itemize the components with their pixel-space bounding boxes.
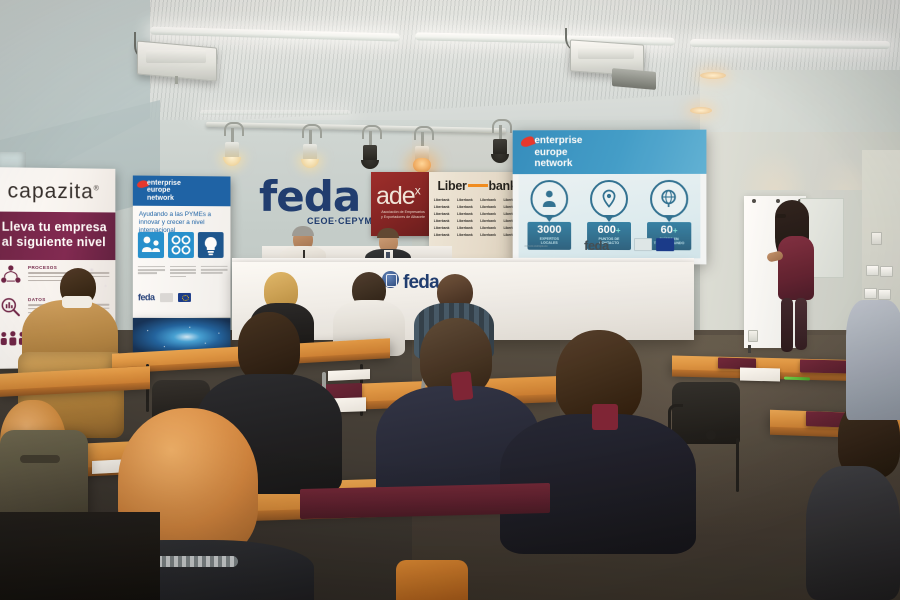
asesoramiento-icon: [138, 232, 164, 258]
riser-feda-logo: feda: [403, 272, 439, 294]
liberbank-repeat-label: Liberbank: [431, 198, 452, 202]
presenter-leg: [795, 298, 807, 350]
light-switch[interactable]: [864, 288, 877, 299]
wall-socket: [748, 330, 758, 342]
liberbank-repeat-label: Liberbank: [478, 226, 499, 230]
co-funded-logo: [160, 293, 173, 302]
capazita-section-heading: DATOS: [28, 297, 46, 302]
slide-footer-note: een.ec.europa.eu: [525, 244, 548, 248]
conference-folder[interactable]: [800, 359, 848, 373]
stat-value: 600: [598, 224, 616, 236]
adex-subtitle-line1: Asociación de Empresarios: [381, 210, 425, 214]
projector-lens-housing: [146, 50, 206, 63]
slide-brand-line1: enterprise: [534, 135, 582, 146]
recessed-downlight: [700, 72, 726, 79]
chair-caster: [706, 430, 716, 440]
chair-leg: [736, 438, 739, 492]
een-caption-block: [201, 266, 227, 279]
projector-mount-stem: [175, 76, 178, 84]
capazita-headline-line1: Lleva tu empresa: [0, 212, 115, 236]
een-brand-line3: network: [147, 195, 174, 202]
handout-sheet[interactable]: [740, 368, 780, 382]
recessed-downlight: [690, 107, 712, 114]
liberbank-repeat-grid: LiberbankLiberbankLiberbankLiberbankLibe…: [431, 198, 522, 237]
slide-stat-number: 60+: [647, 225, 691, 236]
conference-room-photo: capazita® Lleva tu empresa al siguiente …: [0, 0, 900, 600]
liberbank-repeat-label: Liberbank: [478, 219, 499, 223]
audience-collar: [62, 296, 92, 308]
stat-suffix: +: [673, 226, 678, 235]
lanyard: [451, 371, 474, 401]
innovacion-bulb-icon: [198, 232, 224, 258]
presenter-leg: [781, 298, 793, 352]
capazita-headline-line2: al siguiente nivel: [0, 235, 115, 250]
globe-icon: [650, 180, 688, 218]
stat-value: 60: [661, 224, 673, 236]
adex-wall-panel: adex Asociación de Empresarios y Exporta…: [371, 172, 433, 236]
een-brand-line1: enterprise: [147, 180, 181, 187]
adex-subtitle-line2: y Exportadores de Albacete: [381, 215, 425, 219]
een-card-captions: [138, 266, 228, 279]
slide-brand-line3: network: [534, 158, 572, 169]
projector-ceiling-recess: [612, 68, 656, 90]
audience-torso: [806, 466, 900, 600]
liberbank-main-logo: Liberbank: [433, 179, 521, 193]
slide-stat: 3000 EXPERTOSLOCALES: [523, 180, 577, 250]
capazita-logo: capazita®: [0, 179, 107, 204]
foreground-shadow: [0, 512, 160, 600]
presenter-glasses: [776, 214, 786, 218]
slide-footer-logos: [634, 238, 674, 251]
flipchart-leg: [748, 345, 751, 353]
liberbank-repeat-label: Liberbank: [454, 219, 475, 223]
liberbank-accent-bar: [468, 184, 488, 187]
pointer-triangle: [604, 215, 614, 222]
audience-head: [238, 312, 300, 382]
feda-logo-text: feda: [259, 172, 360, 221]
een-brand-block: enterprise europe network: [147, 180, 181, 203]
liberbank-repeat-label: Liberbank: [454, 212, 475, 216]
een-caption-block: [138, 266, 165, 279]
presenter-dress: [778, 236, 814, 300]
liberbank-repeat-label: Liberbank: [431, 212, 452, 216]
light-switch[interactable]: [878, 289, 891, 300]
stat-value: 3000: [537, 224, 561, 236]
flipchart-clip: [752, 199, 756, 203]
audience-torso: [846, 300, 900, 420]
liberbank-word-a: Liber: [437, 179, 466, 193]
slide-stat-number: 3000: [528, 225, 572, 236]
stat-suffix: +: [616, 226, 621, 235]
feda-logo-subtitle: CEOE·CEPYME: [307, 216, 379, 226]
co-funded-logo: [634, 238, 652, 251]
een-caption-block: [170, 266, 197, 279]
capazita-headline-band: Lleva tu empresa al siguiente nivel: [0, 212, 115, 261]
liberbank-repeat-label: Liberbank: [454, 226, 475, 230]
liberbank-repeat-label: Liberbank: [431, 219, 452, 223]
een-banner-footer: feda: [138, 292, 228, 303]
eu-flag-icon: [178, 292, 191, 301]
slide-footer-feda-logo: feda: [584, 238, 609, 253]
magnifier-data-icon: [0, 296, 22, 318]
projection-screen: enterprise europe network 3000 EXPERTOSL…: [513, 130, 707, 265]
adex-subtitle: Asociación de Empresarios y Exportadores…: [377, 210, 429, 220]
people-group-icon: [0, 330, 22, 352]
capazita-logo-text: capazita: [8, 179, 94, 203]
liberbank-repeat-label: Liberbank: [431, 205, 452, 209]
adex-word: ade: [376, 182, 415, 210]
een-brand-line2: europe: [147, 187, 170, 194]
slide-header: enterprise europe network: [513, 130, 707, 175]
pointer-triangle: [664, 215, 674, 222]
projector-lens-housing: [578, 47, 634, 59]
slide-brand-block: enterprise europe network: [534, 135, 582, 170]
capazita-section-heading: PROCESOS: [28, 265, 57, 270]
expert-person-icon: [530, 180, 568, 218]
slide-brand-line2: europe: [534, 147, 567, 158]
adex-logo-text: adex: [376, 182, 420, 211]
lanyard: [592, 404, 618, 430]
pointer-triangle: [544, 215, 554, 222]
liberbank-repeat-label: Liberbank: [478, 205, 499, 209]
slide-stat-number: 600+: [587, 225, 631, 236]
een-swoosh-icon: [519, 135, 535, 148]
process-cycle-icon: [0, 264, 22, 286]
een-footer-feda-logo: feda: [138, 292, 155, 302]
handout-sheet[interactable]: [328, 369, 370, 381]
liberbank-repeat-label: Liberbank: [478, 212, 499, 216]
conference-folder[interactable]: [300, 483, 550, 519]
light-switch[interactable]: [866, 265, 879, 276]
eu-flag-icon: [656, 238, 674, 251]
liberbank-repeat-label: Liberbank: [454, 205, 475, 209]
een-icon-cards: [138, 232, 228, 264]
liberbank-repeat-label: Liberbank: [478, 198, 499, 202]
adex-suffix: x: [415, 184, 420, 198]
liberbank-repeat-label: Liberbank: [478, 233, 499, 237]
flipchart-clip: [776, 199, 780, 203]
liberbank-repeat-label: Liberbank: [454, 198, 475, 202]
busqueda-socios-icon: [168, 232, 194, 258]
light-switch[interactable]: [880, 266, 893, 277]
fluorescent-tube: [200, 110, 350, 115]
wall-socket: [871, 232, 882, 245]
orange-object: [396, 560, 468, 600]
een-rollup-banner: enterprise europe network Ayudando a las…: [133, 175, 231, 318]
een-banner-header: enterprise europe network: [133, 175, 231, 206]
liberbank-repeat-label: Liberbank: [431, 226, 452, 230]
liberbank-repeat-label: Liberbank: [454, 233, 475, 237]
map-pin-icon: [590, 180, 628, 218]
registered-mark: ®: [94, 185, 100, 192]
backpack-strap: [20, 455, 60, 463]
liberbank-repeat-label: Liberbank: [431, 233, 452, 237]
